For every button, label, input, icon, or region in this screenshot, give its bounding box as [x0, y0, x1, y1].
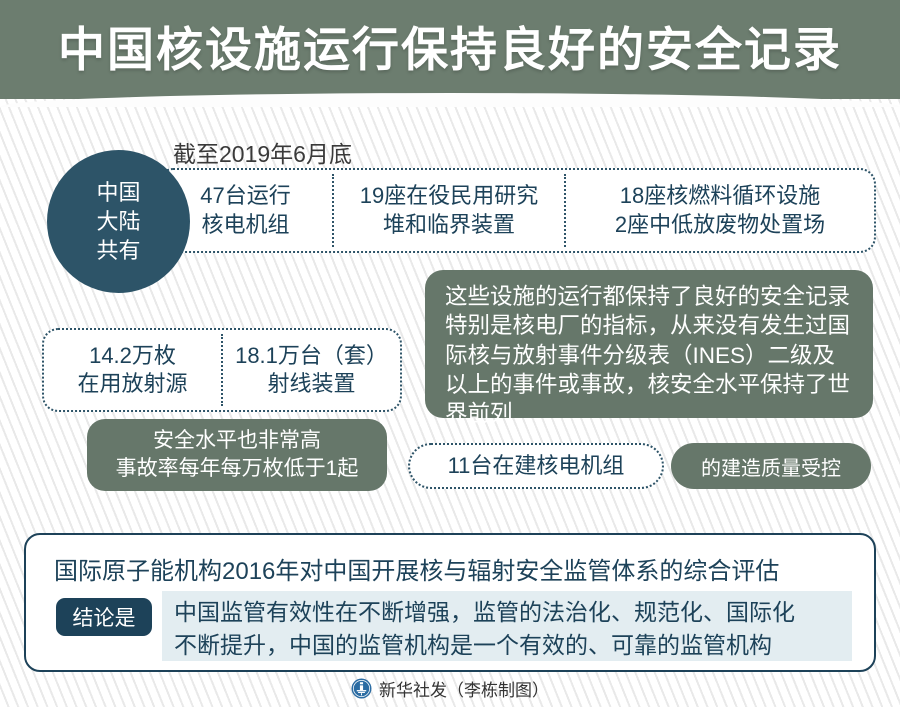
- paragraph-line-2: 特别是核电厂的指标，从来没有发生过国: [445, 311, 857, 340]
- stat-line-1: 14.2万枚: [89, 342, 176, 370]
- circle-line-1: 中国: [96, 178, 140, 207]
- stat-line-2: 堆和临界装置: [383, 211, 515, 239]
- footer: 新华社发（李栋制图）: [0, 676, 900, 701]
- as-of-label: 截至2019年6月底: [173, 135, 352, 169]
- quality-note-label: 的建造质量受控: [701, 452, 841, 481]
- conclusion-line-1: 中国监管有效性在不断增强，监管的法治化、规范化、国际化: [174, 596, 842, 629]
- footer-credit: 新华社发（李栋制图）: [379, 676, 549, 701]
- stat-line-1: 18.1万台（套）: [235, 342, 388, 370]
- conclusion-line-2: 不断提升，中国的监管机构是一个有效的、可靠的监管机构: [174, 629, 842, 662]
- stat-under-construction-units: 11台在建核电机组: [408, 443, 664, 489]
- page-title: 中国核设施运行保持良好的安全记录: [58, 26, 842, 73]
- conclusion-badge: 结论是: [56, 598, 152, 636]
- paragraph-line-3: 际核与放射事件分级表（INES）二级及: [445, 341, 857, 370]
- stat-fuel-cycle-facilities: 18座核燃料循环设施 2座中低放废物处置场: [566, 170, 874, 251]
- stat-radiation-sources: 14.2万枚 在用放射源: [44, 330, 221, 410]
- assessment-heading: 国际原子能机构2016年对中国开展核与辐射安全监管体系的综合评估: [54, 551, 779, 586]
- header-banner: 中国核设施运行保持良好的安全记录: [0, 0, 900, 99]
- safety-record-paragraph: 这些设施的运行都保持了良好的安全记录 特别是核电厂的指标，从来没有发生过国 际核…: [425, 270, 873, 418]
- circle-line-2: 大陆: [96, 207, 140, 236]
- safety-note-line-2: 事故率每年每万枚低于1起: [116, 455, 359, 483]
- construction-quality-note: 的建造质量受控: [671, 443, 871, 489]
- paragraph-line-5: 界前列: [445, 399, 857, 428]
- safety-note-line-1: 安全水平也非常高: [153, 427, 321, 455]
- safety-level-note: 安全水平也非常高 事故率每年每万枚低于1起: [87, 419, 387, 491]
- stat-line-1: 47台运行: [200, 182, 290, 210]
- stat-line-2: 在用放射源: [77, 370, 187, 398]
- stats-row-radiation-sources: 14.2万枚 在用放射源 18.1万台（套） 射线装置: [42, 328, 402, 412]
- stat-line-2: 射线装置: [267, 370, 355, 398]
- stat-line-2: 2座中低放废物处置场: [615, 211, 825, 239]
- paragraph-line-1: 这些设施的运行都保持了良好的安全记录: [445, 282, 857, 311]
- china-mainland-circle: 中国 大陆 共有: [47, 150, 190, 293]
- infographic-page: 中国核设施运行保持良好的安全记录 截至2019年6月底 中国 大陆 共有 47台…: [0, 0, 900, 707]
- stat-line-1: 18座核燃料循环设施: [620, 182, 820, 210]
- paragraph-line-4: 以上的事件或事故，核安全水平保持了世: [445, 370, 857, 399]
- stat-line-1: 19座在役民用研究: [360, 182, 538, 210]
- iaea-assessment-card: 国际原子能机构2016年对中国开展核与辐射安全监管体系的综合评估 结论是 中国监…: [24, 533, 876, 672]
- circle-line-3: 共有: [96, 236, 140, 265]
- stat-line-2: 核电机组: [201, 211, 289, 239]
- conclusion-body: 中国监管有效性在不断增强，监管的法治化、规范化、国际化 不断提升，中国的监管机构…: [162, 591, 852, 661]
- stat-research-reactors: 19座在役民用研究 堆和临界装置: [334, 170, 564, 251]
- stat-ray-devices: 18.1万台（套） 射线装置: [223, 330, 400, 410]
- stat-line-1: 11台在建核电机组: [410, 445, 662, 487]
- xinhua-logo-icon: [351, 678, 372, 699]
- stats-row-facilities: 47台运行 核电机组 19座在役民用研究 堆和临界装置 18座核燃料循环设施 2…: [157, 168, 876, 253]
